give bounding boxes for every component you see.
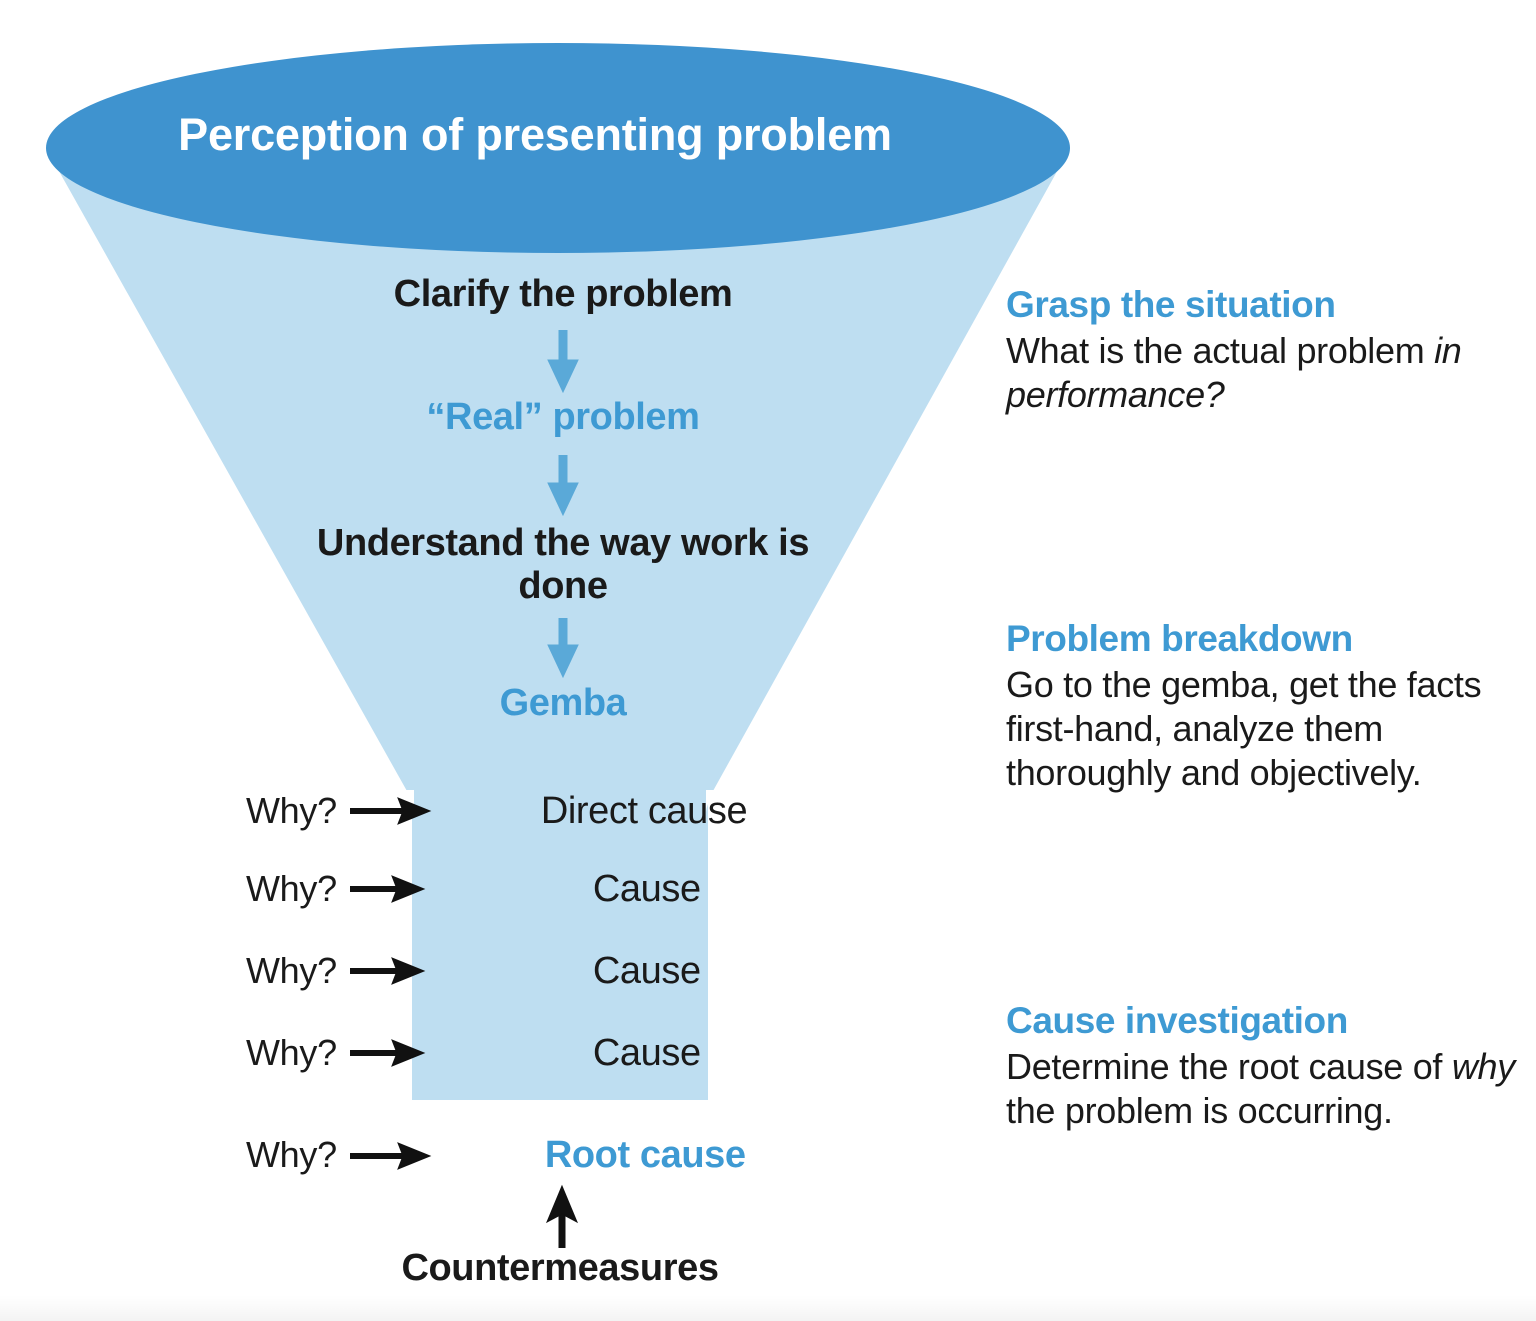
up-arrow-icon [547, 1186, 577, 1248]
stage-label-understand-the-way-work-is-done: Understand the way work is done [283, 522, 843, 607]
why-label: Why? [246, 1035, 337, 1071]
why-label: Why? [246, 871, 337, 907]
why-row: Why? Cause [246, 1028, 701, 1078]
why-label: Why? [246, 793, 337, 829]
note-body-lead: Go to the gemba, get the facts first-han… [1006, 664, 1481, 793]
cause-label: Cause [593, 1034, 701, 1072]
note-body-tail: the problem is occurring. [1006, 1090, 1393, 1131]
page-title: Perception of presenting problem [0, 112, 1070, 157]
stage-label-clarify-the-problem: Clarify the problem [283, 275, 843, 313]
cause-label: Cause [593, 870, 701, 908]
cause-label-root-cause: Root cause [545, 1136, 746, 1174]
stage-label-gemba: Gemba [283, 684, 843, 722]
cause-label-direct-cause: Direct cause [541, 792, 747, 830]
note-body: What is the actual problem in performanc… [1006, 329, 1516, 417]
note-title: Cause investigation [1006, 1000, 1516, 1043]
countermeasures-label: Countermeasures [280, 1249, 840, 1287]
note-body: Determine the root cause of why the prob… [1006, 1045, 1516, 1133]
note-body-lead: Determine the root cause of [1006, 1046, 1442, 1087]
why-label: Why? [246, 953, 337, 989]
note-title: Grasp the situation [1006, 284, 1516, 327]
note-grasp-the-situation: Grasp the situation What is the actual p… [1006, 284, 1516, 417]
note-title: Problem breakdown [1006, 618, 1516, 661]
note-body: Go to the gemba, get the facts first-han… [1006, 663, 1516, 795]
note-body-lead: What is the actual problem [1006, 330, 1424, 371]
why-row: Why? Direct cause [246, 786, 747, 836]
stage-label-real-problem: “Real” problem [283, 398, 843, 436]
note-problem-breakdown: Problem breakdown Go to the gemba, get t… [1006, 618, 1516, 795]
cause-label: Cause [593, 952, 701, 990]
bottom-band [0, 1295, 1536, 1321]
diagram-canvas: Perception of presenting problem Clarify… [0, 0, 1536, 1321]
why-row: Why? Cause [246, 864, 701, 914]
why-row: Why? Cause [246, 946, 701, 996]
why-row: Why? Root cause [246, 1130, 746, 1180]
why-label: Why? [246, 1137, 337, 1173]
note-cause-investigation: Cause investigation Determine the root c… [1006, 1000, 1516, 1133]
note-body-emphasis: why [1452, 1046, 1515, 1087]
